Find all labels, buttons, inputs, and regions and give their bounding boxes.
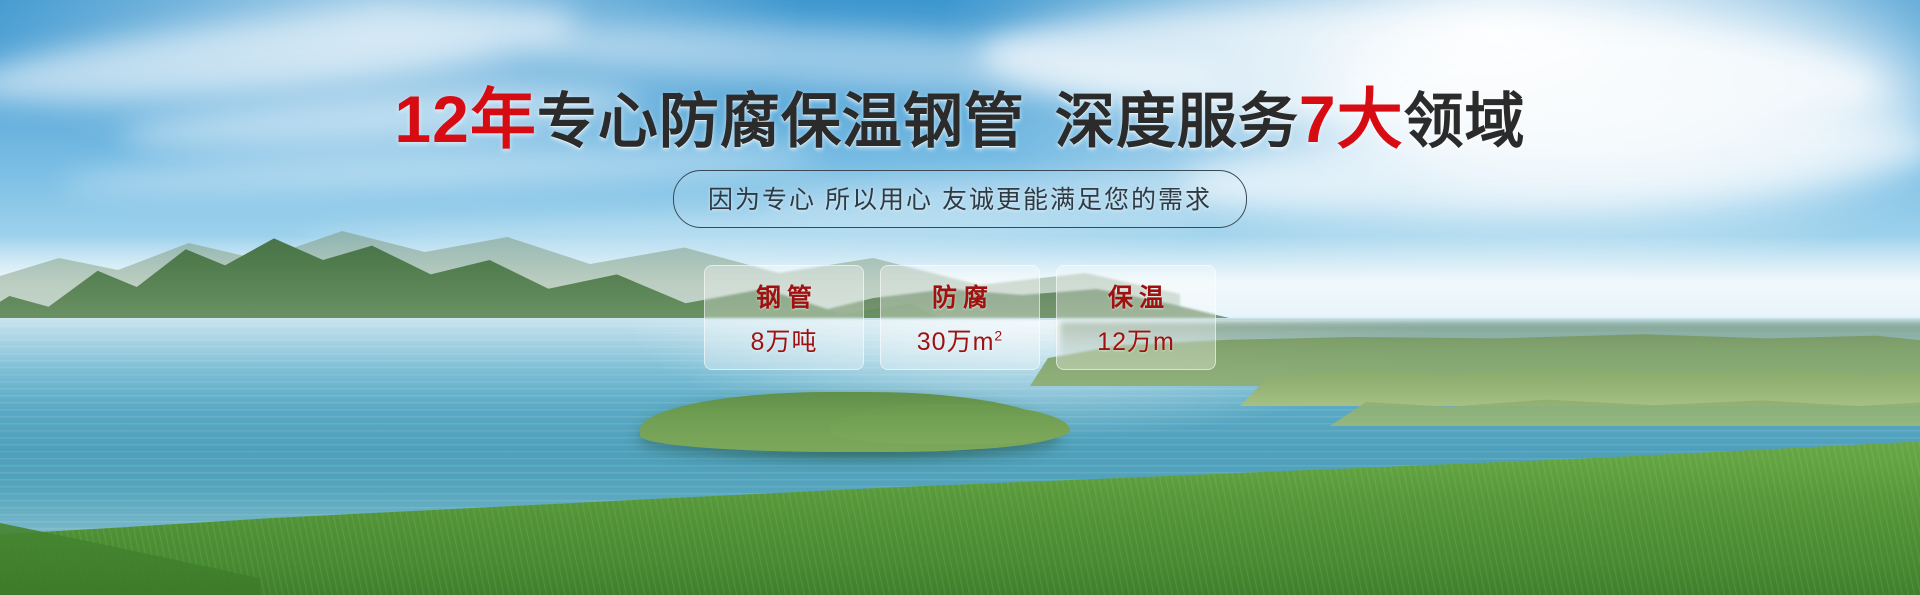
stat-card-label: 钢管: [750, 278, 818, 314]
headline-years-unit: 年: [470, 82, 537, 156]
headline-fields-unit: 大: [1337, 82, 1404, 156]
stat-card-value-text: 8万吨: [751, 328, 818, 356]
stat-card-value: 8万吨: [751, 322, 818, 358]
banner-content: 12年专心防腐保温钢管深度服务7大领域 因为专心 所以用心 友诚更能满足您的需求…: [0, 0, 1920, 595]
stat-card-steel-pipe: 钢管 8万吨: [704, 265, 864, 370]
stat-card-list: 钢管 8万吨 防腐 30万m2 保温 12万m: [0, 265, 1920, 370]
stat-card-value-superscript: 2: [994, 327, 1003, 343]
headline-segment-1: 专心防腐保温钢管: [537, 88, 1025, 155]
stat-card-label: 保温: [1102, 278, 1170, 314]
headline-fields-number: 7: [1299, 82, 1337, 156]
stat-card-value: 12万m: [1097, 322, 1175, 358]
headline-segment-2: 深度服务: [1055, 88, 1299, 155]
subtitle-wrapper: 因为专心 所以用心 友诚更能满足您的需求: [0, 170, 1920, 228]
stat-card-value: 30万m2: [917, 322, 1003, 358]
subtitle-pill: 因为专心 所以用心 友诚更能满足您的需求: [673, 170, 1247, 228]
stat-card-insulation: 保温 12万m: [1056, 265, 1216, 370]
stat-card-label: 防腐: [926, 278, 994, 314]
stat-card-value-text: 12万m: [1097, 328, 1175, 356]
stat-card-anticorrosion: 防腐 30万m2: [880, 265, 1040, 370]
hero-banner: 12年专心防腐保温钢管深度服务7大领域 因为专心 所以用心 友诚更能满足您的需求…: [0, 0, 1920, 595]
headline-segment-3: 领域: [1404, 88, 1526, 155]
headline-years-number: 12: [394, 82, 469, 156]
stat-card-value-text: 30万m: [917, 328, 995, 356]
banner-headline: 12年专心防腐保温钢管深度服务7大领域: [0, 86, 1920, 152]
